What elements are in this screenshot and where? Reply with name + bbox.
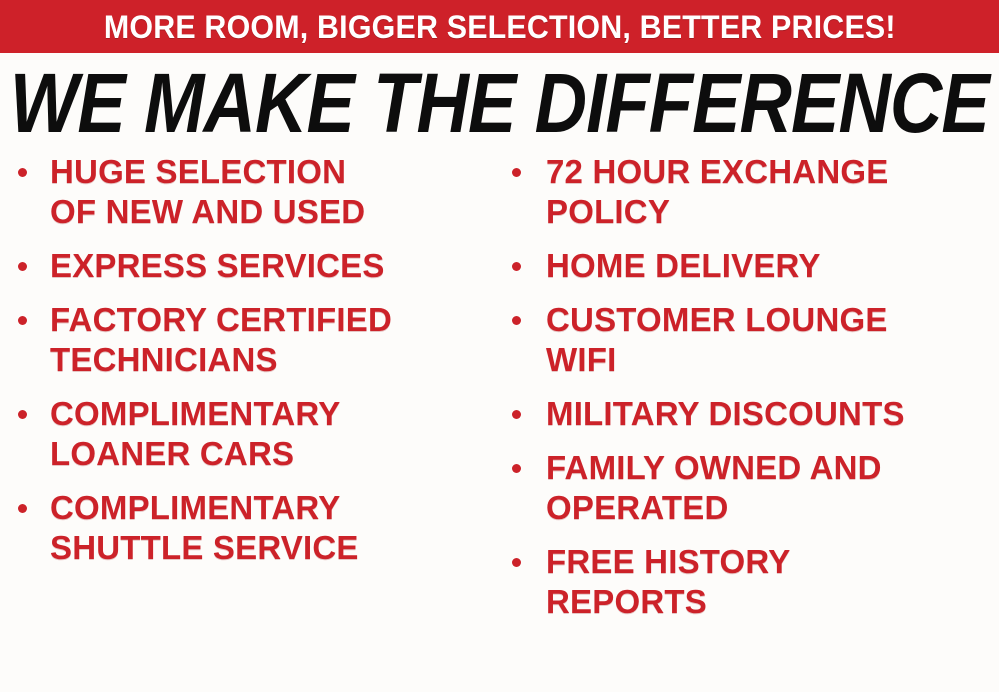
list-item: MILITARY DISCOUNTS xyxy=(508,394,999,434)
dealership-advertisement: MORE ROOM, BIGGER SELECTION, BETTER PRIC… xyxy=(0,0,999,692)
list-item-label: CUSTOMER LOUNGE WIFI xyxy=(546,300,999,380)
list-item: CUSTOMER LOUNGE WIFI xyxy=(508,300,999,380)
bullet-dot-icon xyxy=(18,410,27,419)
list-item: COMPLIMENTARY SHUTTLE SERVICE xyxy=(14,488,504,568)
bullet-dot-icon xyxy=(18,504,27,513)
list-item: EXPRESS SERVICES xyxy=(14,246,504,286)
list-item: 72 HOUR EXCHANGE POLICY xyxy=(508,152,999,232)
list-item: FACTORY CERTIFIED TECHNICIANS xyxy=(14,300,504,380)
bullet-dot-icon xyxy=(18,168,27,177)
promo-banner-text: MORE ROOM, BIGGER SELECTION, BETTER PRIC… xyxy=(104,10,896,44)
list-item-label: HOME DELIVERY xyxy=(546,246,999,286)
benefits-list-left: HUGE SELECTION OF NEW AND USED EXPRESS S… xyxy=(14,152,504,568)
bullet-dot-icon xyxy=(18,316,27,325)
list-item-label: COMPLIMENTARY LOANER CARS xyxy=(50,394,504,474)
list-item-label: HUGE SELECTION OF NEW AND USED xyxy=(50,152,504,232)
benefits-column-left: HUGE SELECTION OF NEW AND USED EXPRESS S… xyxy=(14,152,504,582)
benefits-list-right: 72 HOUR EXCHANGE POLICY HOME DELIVERY CU… xyxy=(508,152,999,622)
promo-banner: MORE ROOM, BIGGER SELECTION, BETTER PRIC… xyxy=(0,0,999,53)
bullet-dot-icon xyxy=(512,316,521,325)
list-item: HUGE SELECTION OF NEW AND USED xyxy=(14,152,504,232)
list-item-label: EXPRESS SERVICES xyxy=(50,246,504,286)
list-item: FAMILY OWNED AND OPERATED xyxy=(508,448,999,528)
list-item-label: FAMILY OWNED AND OPERATED xyxy=(546,448,999,528)
benefits-columns: HUGE SELECTION OF NEW AND USED EXPRESS S… xyxy=(0,152,999,692)
list-item: HOME DELIVERY xyxy=(508,246,999,286)
headline-container: WE MAKE THE DIFFERENCE xyxy=(0,56,999,150)
list-item-label: MILITARY DISCOUNTS xyxy=(546,394,999,434)
list-item: FREE HISTORY REPORTS xyxy=(508,542,999,622)
page-title: WE MAKE THE DIFFERENCE xyxy=(10,60,989,146)
bullet-dot-icon xyxy=(512,410,521,419)
list-item-label: COMPLIMENTARY SHUTTLE SERVICE xyxy=(50,488,504,568)
list-item-label: 72 HOUR EXCHANGE POLICY xyxy=(546,152,999,232)
bullet-dot-icon xyxy=(18,262,27,271)
benefits-column-right: 72 HOUR EXCHANGE POLICY HOME DELIVERY CU… xyxy=(508,152,999,636)
bullet-dot-icon xyxy=(512,262,521,271)
bullet-dot-icon xyxy=(512,558,521,567)
list-item-label: FREE HISTORY REPORTS xyxy=(546,542,999,622)
bullet-dot-icon xyxy=(512,464,521,473)
bullet-dot-icon xyxy=(512,168,521,177)
list-item: COMPLIMENTARY LOANER CARS xyxy=(14,394,504,474)
list-item-label: FACTORY CERTIFIED TECHNICIANS xyxy=(50,300,504,380)
